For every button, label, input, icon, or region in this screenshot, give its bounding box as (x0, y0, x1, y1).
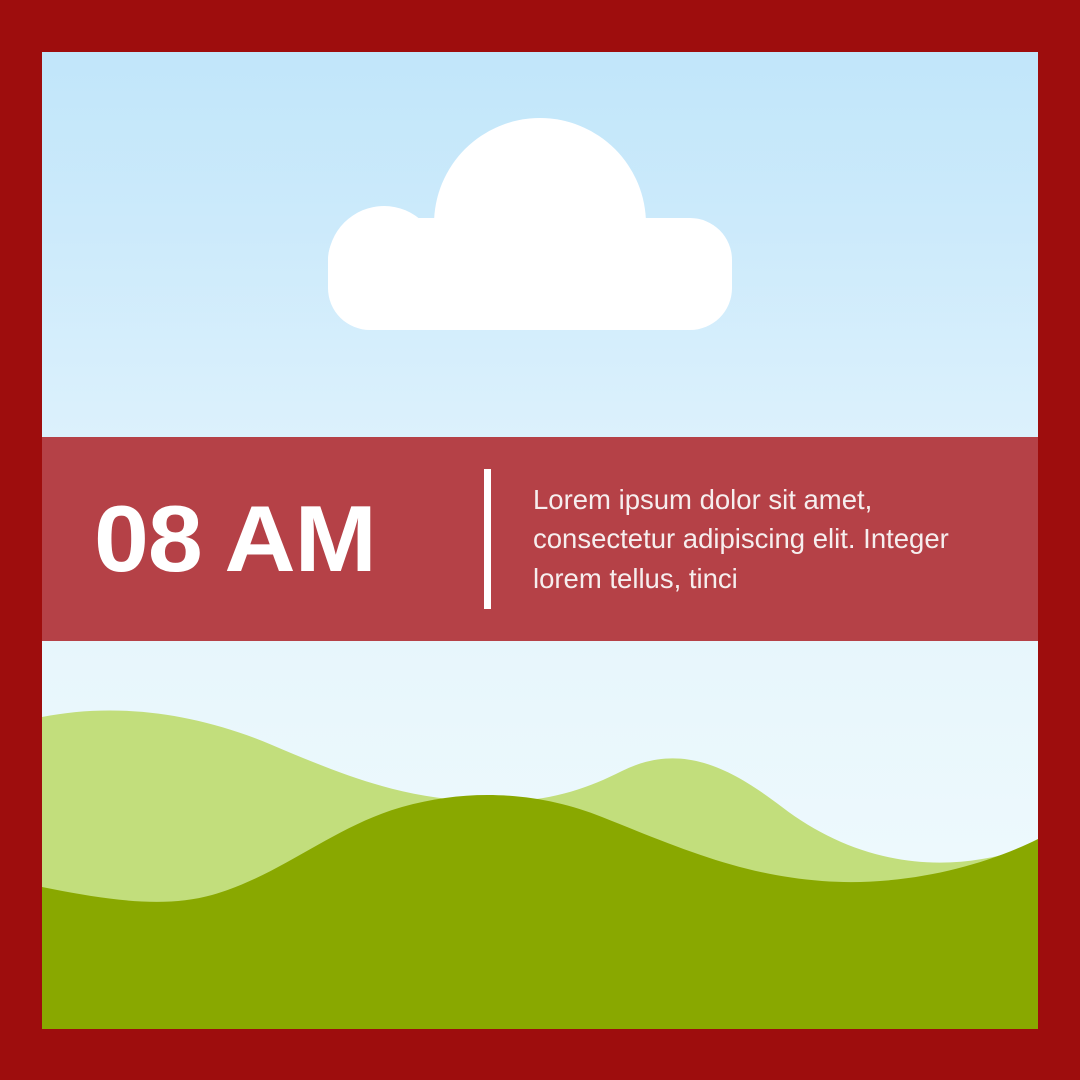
cloud-icon (328, 118, 732, 330)
weather-forecast-poster: 08 AM Lorem ipsum dolor sit amet, consec… (0, 0, 1080, 1080)
time-info-banner: 08 AM Lorem ipsum dolor sit amet, consec… (42, 437, 1038, 641)
poster-content-card: 08 AM Lorem ipsum dolor sit amet, consec… (42, 52, 1038, 1029)
banner-description: Lorem ipsum dolor sit amet, consectetur … (533, 480, 963, 597)
time-label: 08 AM (94, 492, 493, 586)
landscape-panel (42, 641, 1038, 1029)
sky-panel (42, 52, 1038, 437)
